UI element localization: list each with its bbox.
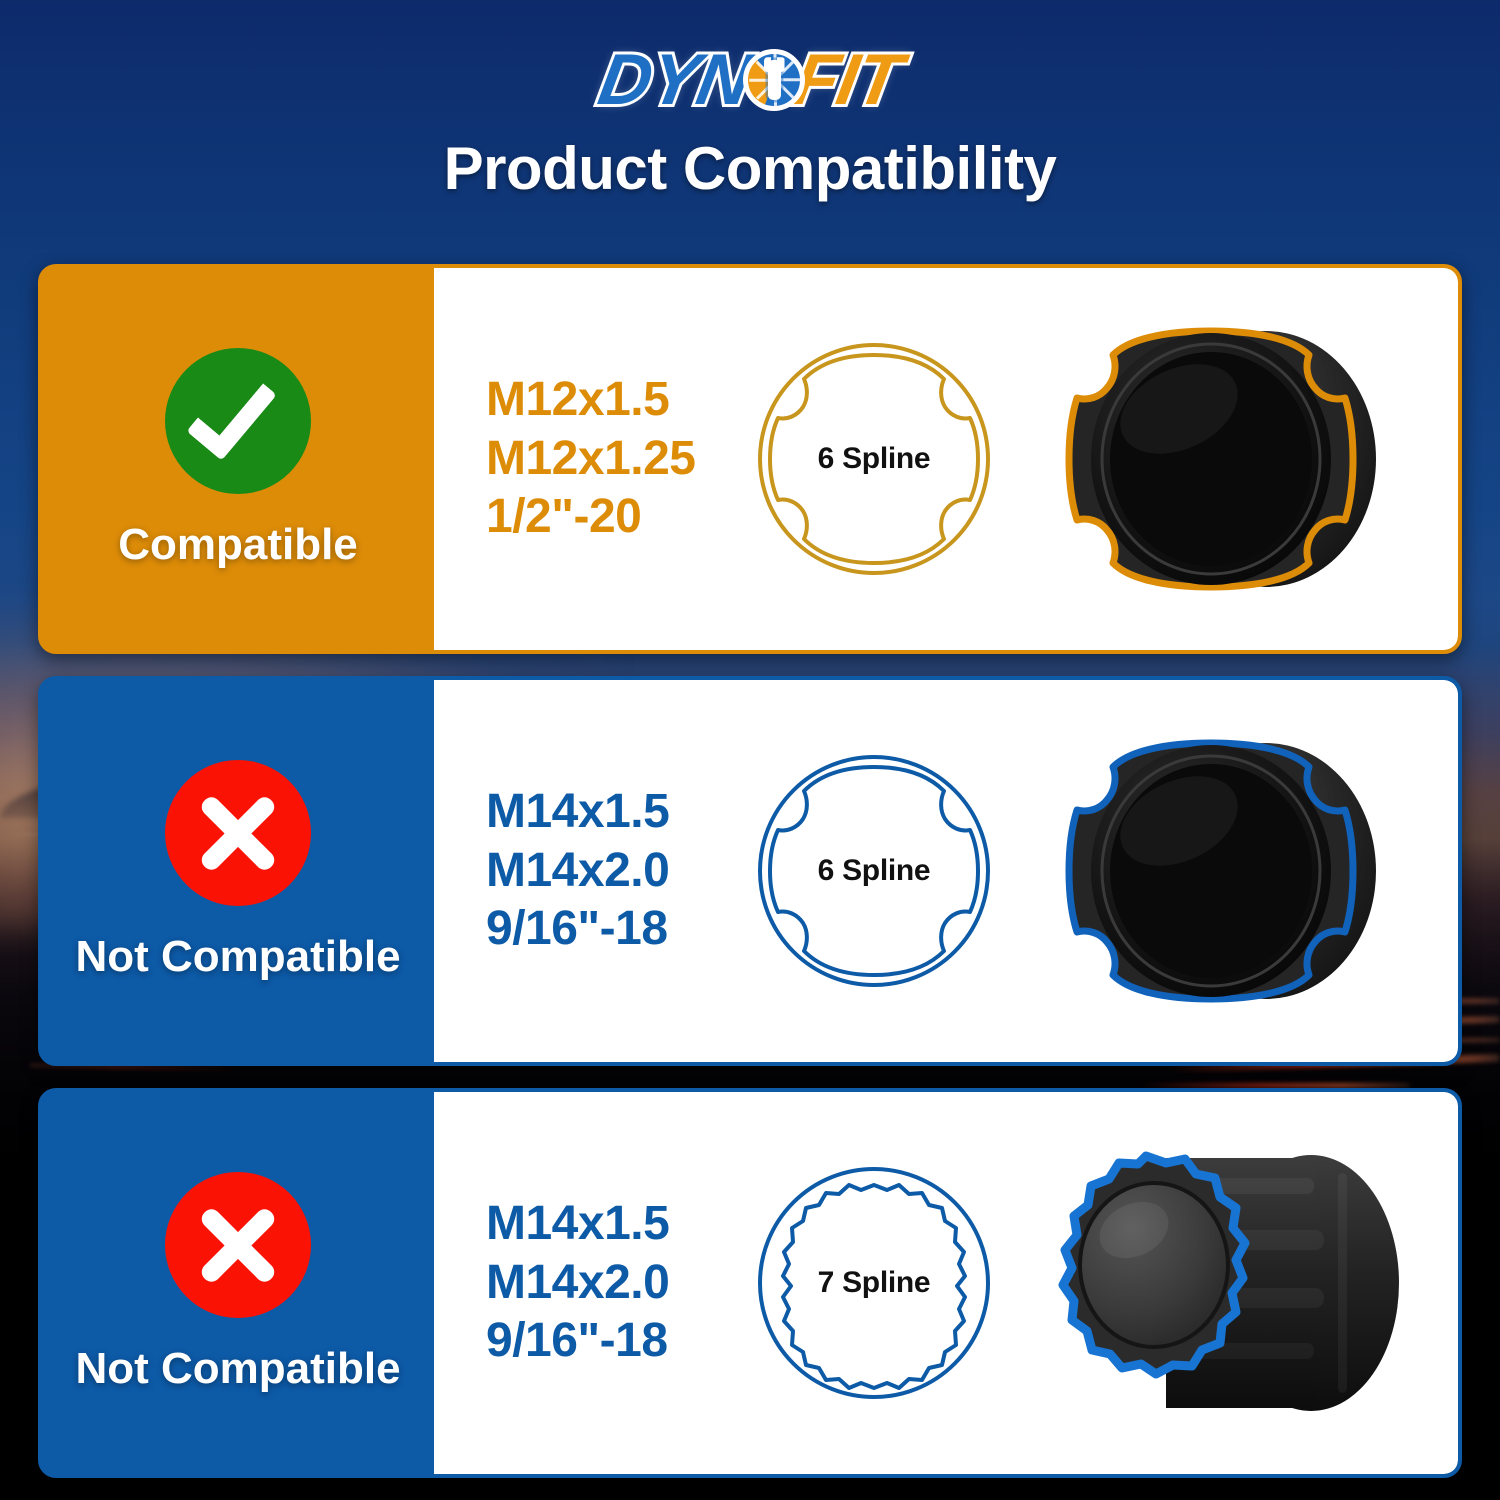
thread-spec: M14x2.0 bbox=[486, 842, 734, 901]
thread-spec: 9/16"-18 bbox=[486, 1312, 734, 1371]
lug-nut-7-spline-icon bbox=[1046, 1138, 1406, 1428]
x-circle-icon bbox=[165, 1172, 311, 1318]
thread-spec-list: M14x1.5 M14x2.0 9/16"-18 bbox=[434, 783, 734, 959]
compatibility-row: Not Compatible M14x1.5 M14x2.0 9/16"-18 … bbox=[38, 676, 1462, 1066]
status-badge: Compatible bbox=[118, 520, 358, 570]
thread-spec: M14x2.0 bbox=[486, 1254, 734, 1313]
spline-diagram: 6 Spline bbox=[734, 751, 1014, 991]
thread-spec: 1/2"-20 bbox=[486, 488, 734, 547]
content-pane: M14x1.5 M14x2.0 9/16"-18 6 Spline bbox=[434, 680, 1458, 1062]
status-pane: Not Compatible bbox=[42, 680, 434, 1062]
lug-nut-6-spline-icon bbox=[1061, 721, 1391, 1021]
thread-spec-list: M14x1.5 M14x2.0 9/16"-18 bbox=[434, 1195, 734, 1371]
spline-label: 7 Spline bbox=[734, 1266, 1014, 1300]
x-mark bbox=[195, 790, 281, 876]
spline-diagram: 7 Spline bbox=[734, 1163, 1014, 1403]
logo-text-right: FIT bbox=[789, 44, 907, 116]
status-badge: Not Compatible bbox=[75, 1344, 400, 1394]
spline-label: 6 Spline bbox=[734, 442, 1014, 476]
status-pane: Compatible bbox=[42, 268, 434, 650]
compatibility-table: Compatible M12x1.5 M12x1.25 1/2"-20 6 Sp… bbox=[38, 264, 1462, 1500]
spline-diagram: 6 Spline bbox=[734, 339, 1014, 579]
check-circle-icon bbox=[165, 348, 311, 494]
thread-spec: 9/16"-18 bbox=[486, 900, 734, 959]
x-mark bbox=[195, 1202, 281, 1288]
product-photo bbox=[1014, 1138, 1458, 1428]
page-title: Product Compatibility bbox=[0, 134, 1500, 203]
x-circle-icon bbox=[165, 760, 311, 906]
spline-label: 6 Spline bbox=[734, 854, 1014, 888]
status-badge: Not Compatible bbox=[75, 932, 400, 982]
logo-text-left: DYN bbox=[594, 44, 756, 116]
status-pane: Not Compatible bbox=[42, 1092, 434, 1474]
wheel-wrench-icon bbox=[743, 49, 805, 111]
thread-spec: M14x1.5 bbox=[486, 783, 734, 842]
infographic-root: DYN FIT Product Compatibility bbox=[0, 0, 1500, 1500]
thread-spec: M12x1.5 bbox=[486, 371, 734, 430]
brand-logo: DYN FIT bbox=[594, 44, 907, 116]
content-pane: M12x1.5 M12x1.25 1/2"-20 6 Spline bbox=[434, 268, 1458, 650]
thread-spec-list: M12x1.5 M12x1.25 1/2"-20 bbox=[434, 371, 734, 547]
thread-spec: M14x1.5 bbox=[486, 1195, 734, 1254]
product-photo bbox=[1014, 721, 1458, 1021]
header: DYN FIT Product Compatibility bbox=[0, 0, 1500, 203]
check-mark bbox=[186, 365, 277, 460]
thread-spec: M12x1.25 bbox=[486, 430, 734, 489]
content-pane: M14x1.5 M14x2.0 9/16"-18 7 Spline bbox=[434, 1092, 1458, 1474]
compatibility-row: Compatible M12x1.5 M12x1.25 1/2"-20 6 Sp… bbox=[38, 264, 1462, 654]
compatibility-row: Not Compatible M14x1.5 M14x2.0 9/16"-18 … bbox=[38, 1088, 1462, 1478]
lug-nut-6-spline-icon bbox=[1061, 309, 1391, 609]
product-photo bbox=[1014, 309, 1458, 609]
